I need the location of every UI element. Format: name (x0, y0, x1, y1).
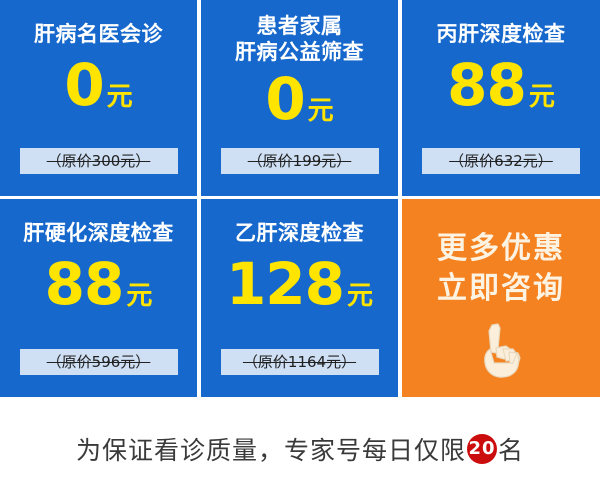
offer-card-5[interactable]: 乙肝深度检查 128 元 （原价1164元） (201, 199, 398, 397)
offer-title: 肝硬化深度检查 (23, 221, 174, 247)
cta-title: 更多优惠 立即咨询 (437, 229, 565, 309)
offer-title-line: 肝硬化深度检查 (23, 221, 174, 247)
pointing-hand-icon (472, 319, 530, 383)
offer-title: 肝病名医会诊 (34, 22, 163, 48)
offer-grid: 肝病名医会诊 0 元 （原价300元） 患者家属 肝病公益筛查 0 元 （原价1… (0, 0, 600, 397)
offer-title: 乙肝深度检查 (235, 221, 364, 247)
offer-card-2[interactable]: 患者家属 肝病公益筛查 0 元 （原价199元） (201, 0, 398, 196)
price-amount: 88 (447, 56, 526, 114)
original-price-badge: （原价199元） (221, 148, 379, 174)
promo-banner: 肝病名医会诊 0 元 （原价300元） 患者家属 肝病公益筛查 0 元 （原价1… (0, 0, 600, 500)
original-price-badge: （原价300元） (20, 148, 178, 174)
price-amount: 0 (64, 56, 103, 114)
offer-price: 0 元 (265, 70, 333, 128)
offer-price: 88 元 (447, 56, 555, 114)
cta-line-1: 更多优惠 (437, 229, 565, 269)
price-amount: 0 (265, 70, 304, 128)
original-price-badge: （原价596元） (20, 349, 178, 375)
offer-title: 丙肝深度检查 (437, 22, 566, 48)
original-price-text: （原价300元） (47, 148, 151, 174)
price-unit: 元 (529, 83, 555, 109)
offer-title-line: 肝病名医会诊 (34, 22, 163, 48)
price-unit: 元 (126, 282, 152, 308)
footer-text: 为保证看诊质量，专家号每日仅限 20 名 (76, 431, 524, 467)
original-price-text: （原价199元） (248, 148, 352, 174)
price-unit: 元 (308, 97, 334, 123)
offer-card-1[interactable]: 肝病名医会诊 0 元 （原价300元） (0, 0, 197, 196)
original-price-text: （原价596元） (47, 349, 151, 375)
original-price-badge: （原价632元） (422, 148, 580, 174)
offer-title-line: 肝病公益筛查 (235, 40, 364, 66)
consult-cta-card[interactable]: 更多优惠 立即咨询 (402, 199, 600, 397)
offer-title-line: 丙肝深度检查 (437, 22, 566, 48)
price-amount: 128 (226, 255, 344, 313)
offer-card-4[interactable]: 肝硬化深度检查 88 元 （原价596元） (0, 199, 197, 397)
daily-quota-badge: 20 (467, 434, 497, 464)
footer-text-after: 名 (498, 431, 524, 467)
price-amount: 88 (45, 255, 124, 313)
original-price-badge: （原价1164元） (221, 349, 379, 375)
original-price-text: （原价1164元） (243, 349, 356, 375)
original-price-text: （原价632元） (449, 148, 553, 174)
offer-title: 患者家属 肝病公益筛查 (235, 14, 364, 66)
offer-title-line: 患者家属 (257, 14, 343, 40)
price-unit: 元 (347, 282, 373, 308)
offer-price: 88 元 (45, 255, 153, 313)
cta-line-2: 立即咨询 (437, 269, 565, 309)
footer-text-before: 为保证看诊质量，专家号每日仅限 (76, 431, 466, 467)
offer-card-3[interactable]: 丙肝深度检查 88 元 （原价632元） (402, 0, 600, 196)
footer-note: 为保证看诊质量，专家号每日仅限 20 名 (0, 397, 600, 500)
offer-title-line: 乙肝深度检查 (235, 221, 364, 247)
offer-price: 0 元 (64, 56, 132, 114)
offer-price: 128 元 (226, 255, 373, 313)
price-unit: 元 (107, 83, 133, 109)
